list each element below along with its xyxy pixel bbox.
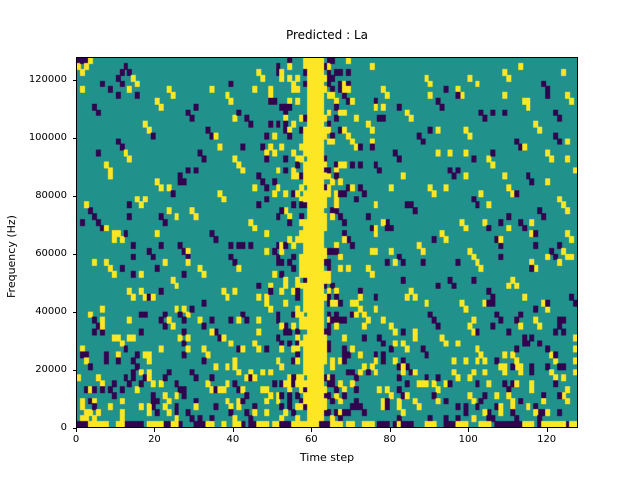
x-tick-label: 40 <box>227 434 240 445</box>
y-tick-mark <box>73 80 77 81</box>
x-tick-mark <box>468 428 469 432</box>
y-tick-label: 0 <box>61 423 67 433</box>
heatmap-axes <box>76 57 578 428</box>
y-tick-mark <box>73 138 77 139</box>
y-tick-label: 100000 <box>29 133 67 143</box>
x-tick-label: 60 <box>305 434 318 445</box>
x-tick-mark <box>154 428 155 432</box>
x-tick-label: 0 <box>73 434 79 445</box>
y-tick-label: 60000 <box>35 249 67 259</box>
y-tick-label: 20000 <box>35 365 67 375</box>
y-tick-label: 80000 <box>35 191 67 201</box>
x-tick-mark <box>233 428 234 432</box>
y-tick-mark <box>73 254 77 255</box>
x-tick-mark <box>390 428 391 432</box>
x-tick-label: 100 <box>459 434 478 445</box>
x-tick-mark <box>311 428 312 432</box>
x-tick-mark <box>76 428 77 432</box>
x-tick-label: 20 <box>148 434 161 445</box>
chart-title: Predicted : La <box>76 28 578 42</box>
y-tick-mark <box>73 312 77 313</box>
y-axis-label: Frequency (Hz) <box>5 71 19 442</box>
y-tick-label: 40000 <box>35 307 67 317</box>
x-tick-label: 80 <box>383 434 396 445</box>
y-tick-mark <box>73 370 77 371</box>
heatmap-image <box>77 58 577 427</box>
y-tick-label: 120000 <box>29 75 67 85</box>
y-tick-mark <box>73 196 77 197</box>
x-tick-mark <box>547 428 548 432</box>
x-axis-label: Time step <box>76 452 578 464</box>
matplotlib-figure: Predicted : La 0200004000060000800001000… <box>0 0 640 480</box>
x-tick-label: 120 <box>537 434 556 445</box>
